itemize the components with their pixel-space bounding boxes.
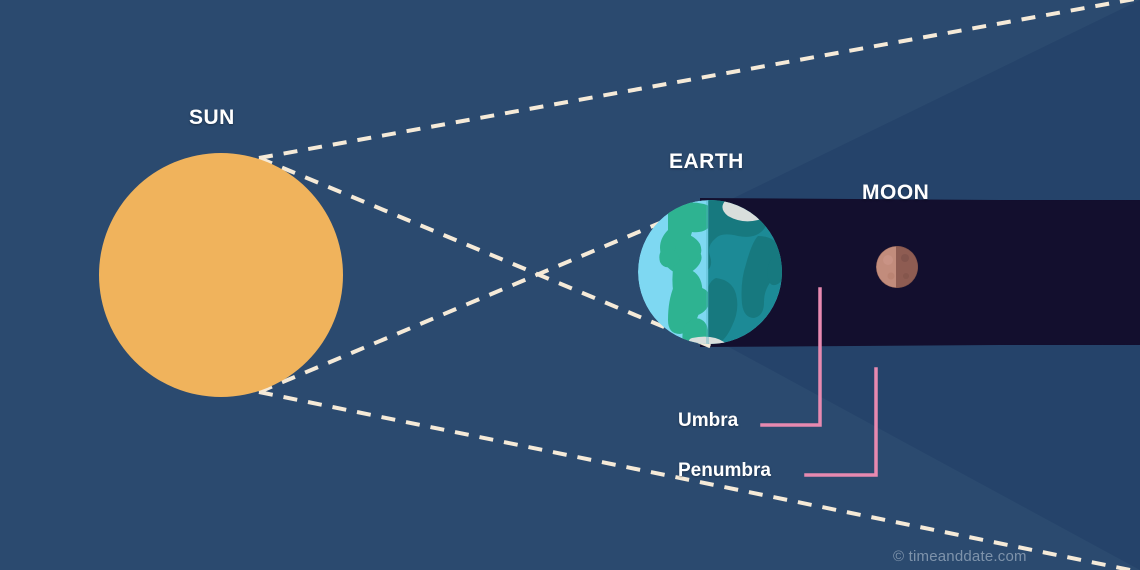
diagram-canvas [0, 0, 1140, 570]
sun-body [99, 153, 343, 397]
lunar-eclipse-diagram: SUN EARTH MOON Umbra Penumbra © timeandd… [0, 0, 1140, 570]
credit-watermark: © timeanddate.com [893, 548, 1027, 565]
